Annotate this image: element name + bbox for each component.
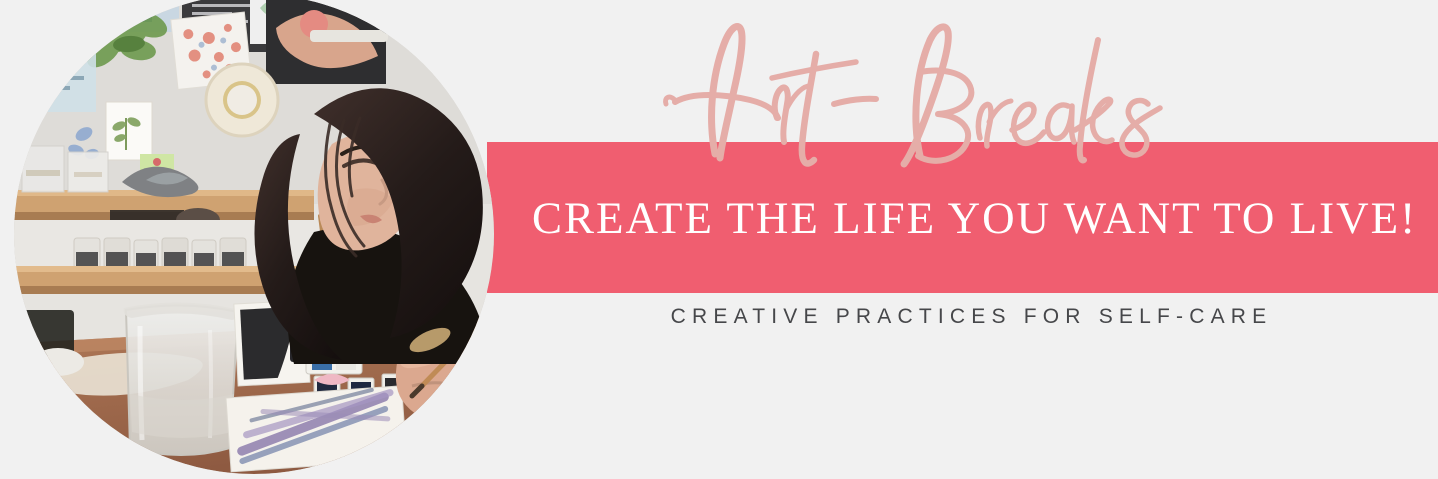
banner-headline: CREATE THE LIFE YOU WANT TO LIVE! xyxy=(487,142,1438,293)
studio-photo xyxy=(14,0,494,474)
site-header-banner: CREATE THE LIFE YOU WANT TO LIVE! Art-Br… xyxy=(0,0,1438,479)
banner-tagline: CREATIVE PRACTICES FOR SELF-CARE xyxy=(487,305,1438,329)
